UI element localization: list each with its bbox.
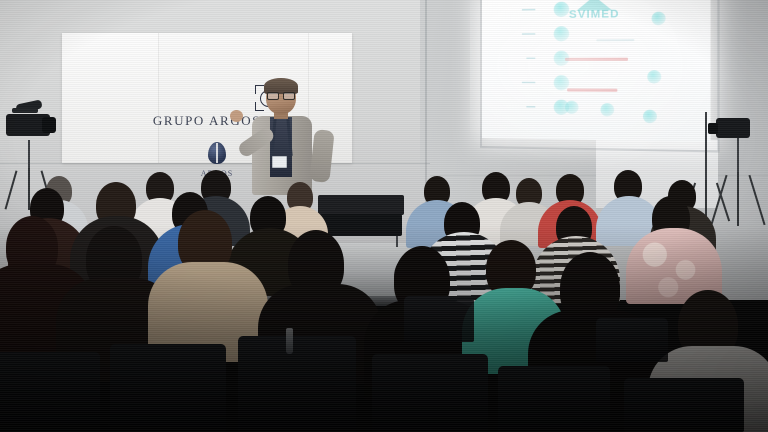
chair-back	[238, 336, 356, 432]
tripod-leg	[737, 172, 739, 226]
slide-row-label: ▬▬	[486, 94, 538, 119]
photo-scene: GRUPO ARGOS ARGOS CEL SVIMED ▬▬▬ ▬▬▬ ▬▬ …	[0, 0, 768, 432]
chair-back	[624, 378, 744, 432]
water-bottle	[286, 328, 293, 354]
slide-row-label: ▬▬▬	[486, 70, 538, 94]
presenter-glasses-icon	[267, 92, 295, 98]
chair-back	[372, 354, 488, 432]
chair-back	[498, 366, 610, 432]
presenter-name-badge	[272, 156, 287, 168]
chair-back	[0, 352, 100, 432]
banner-seam-1	[158, 33, 159, 163]
chair-back	[110, 344, 226, 432]
slide-icon	[540, 21, 581, 46]
banner-panel-left	[62, 33, 158, 163]
slide-dot	[600, 103, 614, 117]
video-camera	[2, 100, 58, 152]
chair-back	[404, 296, 474, 342]
camera-handle	[12, 108, 38, 113]
right-camera-tripod	[716, 136, 760, 226]
slide-row-label: ▬▬▬	[486, 21, 538, 46]
camera-lens	[42, 117, 56, 133]
slide-faint-line	[596, 39, 634, 41]
sofa-back	[318, 195, 404, 215]
stand-column	[705, 112, 707, 188]
slide-dot	[643, 110, 657, 124]
chair-back	[596, 318, 668, 362]
slide-dot	[565, 101, 578, 114]
slide-row-labels: ▬▬▬ ▬▬▬ ▬▬ ▬▬▬ ▬▬	[486, 0, 538, 119]
slide-bar-2	[567, 88, 617, 91]
tripod-column	[737, 136, 739, 176]
slide-row-label: ▬▬▬	[486, 0, 538, 22]
slide-icon	[540, 0, 581, 21]
slide-dot	[652, 12, 666, 26]
right-camera-head	[716, 118, 750, 138]
projection-screen: SVIMED ▬▬▬ ▬▬▬ ▬▬ ▬▬▬ ▬▬	[482, 0, 711, 142]
slide-row-label: ▬▬	[486, 46, 538, 70]
slide-dot	[647, 70, 661, 84]
presenter-right-hand	[230, 110, 243, 122]
tripod-leg	[5, 170, 18, 209]
presenter	[236, 80, 328, 195]
slide-bar-1	[565, 58, 628, 61]
sofa-seat	[320, 214, 402, 236]
